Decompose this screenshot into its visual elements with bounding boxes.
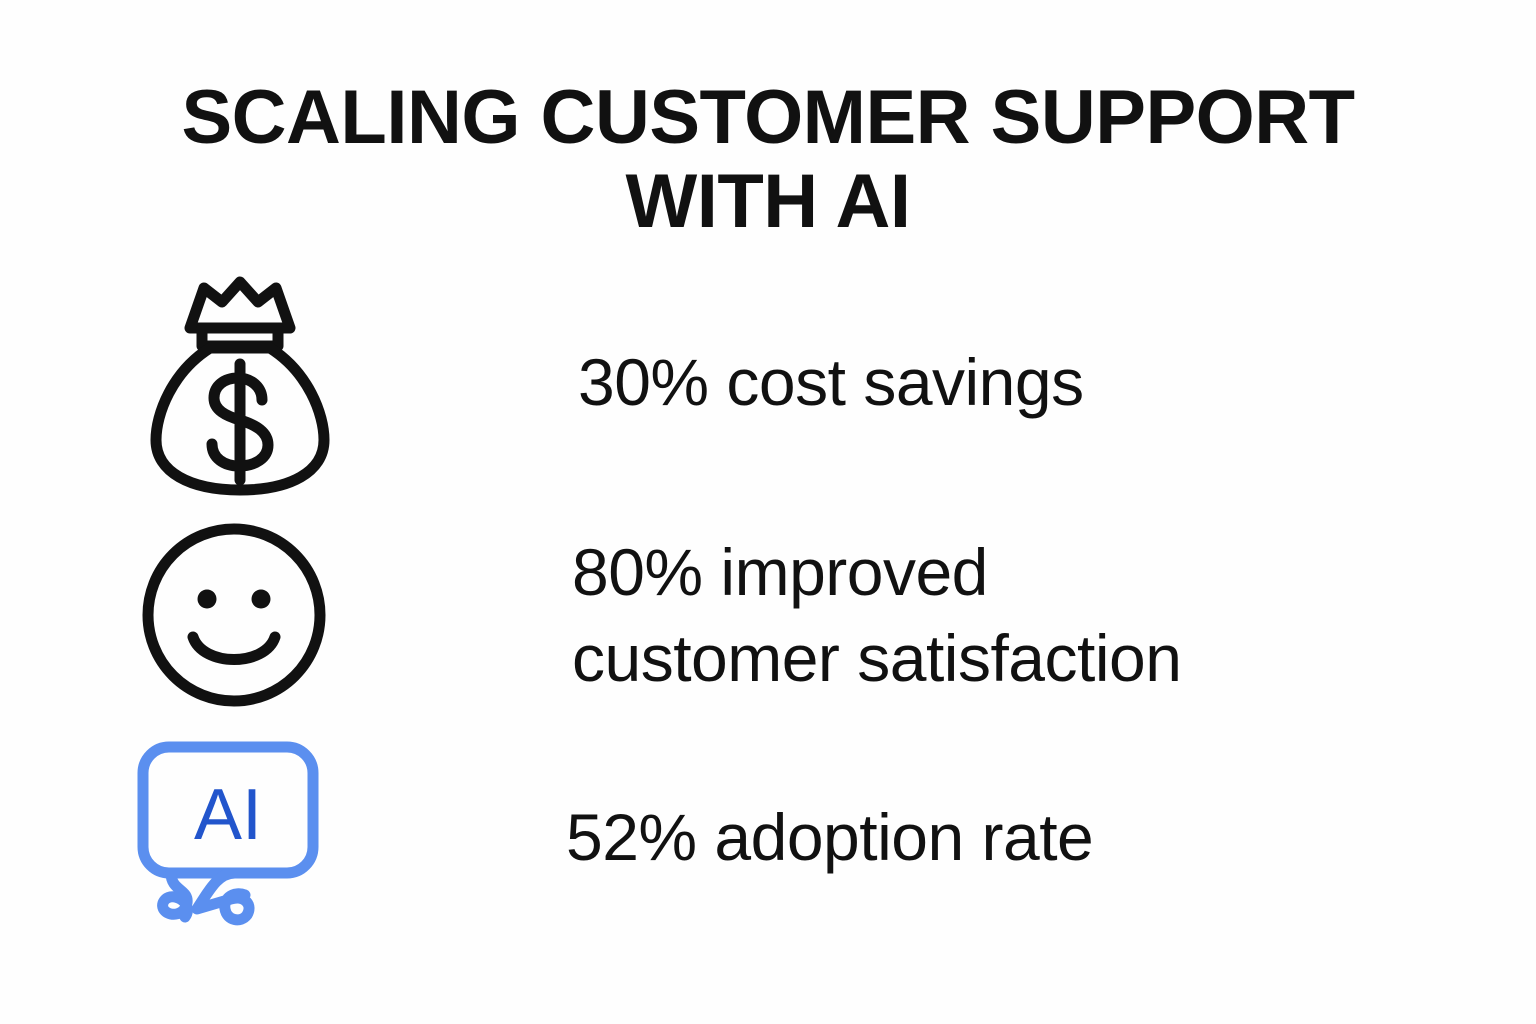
infographic-canvas: SCALING CUSTOMER SUPPORT WITH AI: [0, 0, 1536, 1024]
stat-line-1: 30% cost savings: [578, 339, 1536, 425]
ai-icon-label: AI: [194, 775, 262, 855]
stat-row-satisfaction: 80% improved customer satisfaction: [0, 510, 1536, 720]
ai-speech-bubble-icon: AI: [0, 739, 448, 935]
stat-text-adoption: 52% adoption rate: [448, 794, 1536, 880]
stat-row-adoption: AI 52% adoption rate: [0, 732, 1536, 942]
stat-line-2: customer satisfaction: [572, 615, 1536, 701]
page-title: SCALING CUSTOMER SUPPORT WITH AI: [0, 76, 1536, 244]
money-bag-icon: [0, 268, 460, 496]
stat-text-cost-savings: 30% cost savings: [460, 339, 1536, 425]
stat-line-1: 52% adoption rate: [566, 794, 1536, 880]
stat-row-cost-savings: 30% cost savings: [0, 262, 1536, 502]
stat-line-1: 80% improved: [572, 529, 1536, 615]
title-line-2: WITH AI: [0, 160, 1536, 244]
stat-text-satisfaction: 80% improved customer satisfaction: [454, 529, 1536, 701]
title-line-1: SCALING CUSTOMER SUPPORT: [0, 76, 1536, 160]
smiley-face-icon: [0, 522, 454, 708]
